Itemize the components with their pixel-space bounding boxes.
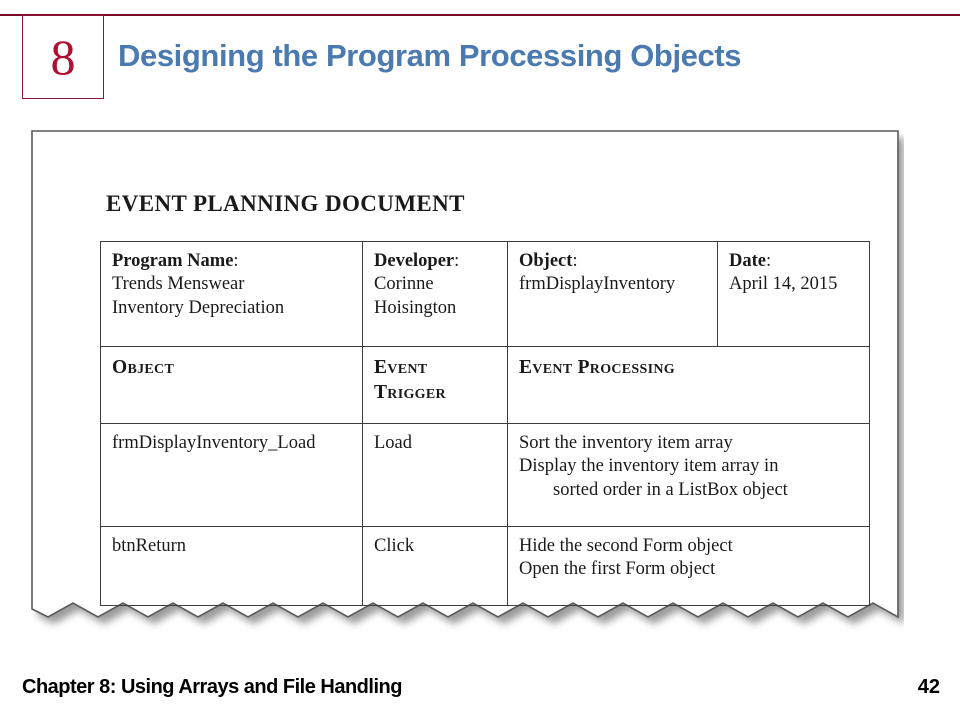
cell-date: Date: April 14, 2015 [718, 242, 870, 347]
developer-line2: Hoisington [374, 297, 497, 320]
program-name-line1: Trends Menswear [112, 273, 352, 296]
date-label: Date [729, 251, 766, 271]
cell-developer: Developer: Corinne Hoisington [363, 242, 508, 347]
object-label: Object [519, 251, 572, 271]
table-row: btnReturn Click Hide the second Form obj… [101, 527, 870, 606]
document-heading: EVENT PLANNING DOCUMENT [106, 191, 465, 217]
program-name-label: Program Name [112, 251, 233, 271]
row-processing-1-line1: Hide the second Form object [519, 535, 859, 558]
table-row-meta: Program Name: Trends Menswear Inventory … [101, 242, 870, 347]
column-header-event-trigger: Event Trigger [363, 347, 508, 424]
header-rule [0, 14, 960, 16]
page-title: Designing the Program Processing Objects [118, 38, 918, 74]
program-name-line2: Inventory Depreciation [112, 297, 352, 320]
footer-chapter-label: Chapter 8: Using Arrays and File Handlin… [22, 676, 402, 699]
column-header-event-trigger-line2: Trigger [374, 381, 497, 406]
column-header-object: Object [101, 347, 363, 424]
cell-object: Object: frmDisplayInventory [508, 242, 718, 347]
column-header-event-processing: Event Processing [508, 347, 870, 424]
program-name-label-line: Program Name: [112, 250, 352, 273]
row-processing-0-line3: sorted order in a ListBox object [519, 479, 859, 502]
row-processing-0-line1: Sort the inventory item array [519, 432, 859, 455]
event-planning-table: Program Name: Trends Menswear Inventory … [100, 241, 870, 606]
cell-program-name: Program Name: Trends Menswear Inventory … [101, 242, 363, 347]
table-header-row: Object Event Trigger Event Processing [101, 347, 870, 424]
document-content: EVENT PLANNING DOCUMENT Program Name: Tr… [32, 131, 896, 611]
slide: 8 Designing the Program Processing Objec… [0, 0, 960, 720]
column-header-event-trigger-line1: Event [374, 356, 497, 381]
row-processing-0: Sort the inventory item array Display th… [508, 424, 870, 527]
event-planning-document-figure: EVENT PLANNING DOCUMENT Program Name: Tr… [28, 128, 904, 640]
developer-line1: Corinne [374, 273, 497, 296]
row-object-1: btnReturn [101, 527, 363, 606]
chapter-number: 8 [22, 15, 104, 99]
object-value: frmDisplayInventory [519, 273, 707, 296]
row-trigger-0: Load [363, 424, 508, 527]
table-row: frmDisplayInventory_Load Load Sort the i… [101, 424, 870, 527]
date-value: April 14, 2015 [729, 273, 859, 296]
row-trigger-1: Click [363, 527, 508, 606]
column-header-event-processing-label: Event Processing [519, 356, 859, 381]
object-label-line: Object: [519, 250, 707, 273]
column-header-object-label: Object [112, 356, 352, 381]
row-processing-1-line2: Open the first Form object [519, 558, 859, 581]
developer-label: Developer [374, 251, 454, 271]
date-label-line: Date: [729, 250, 859, 273]
developer-label-line: Developer: [374, 250, 497, 273]
row-processing-0-line2: Display the inventory item array in [519, 455, 859, 478]
row-object-0: frmDisplayInventory_Load [101, 424, 363, 527]
footer-page-number: 42 [918, 676, 940, 699]
row-processing-1: Hide the second Form object Open the fir… [508, 527, 870, 606]
